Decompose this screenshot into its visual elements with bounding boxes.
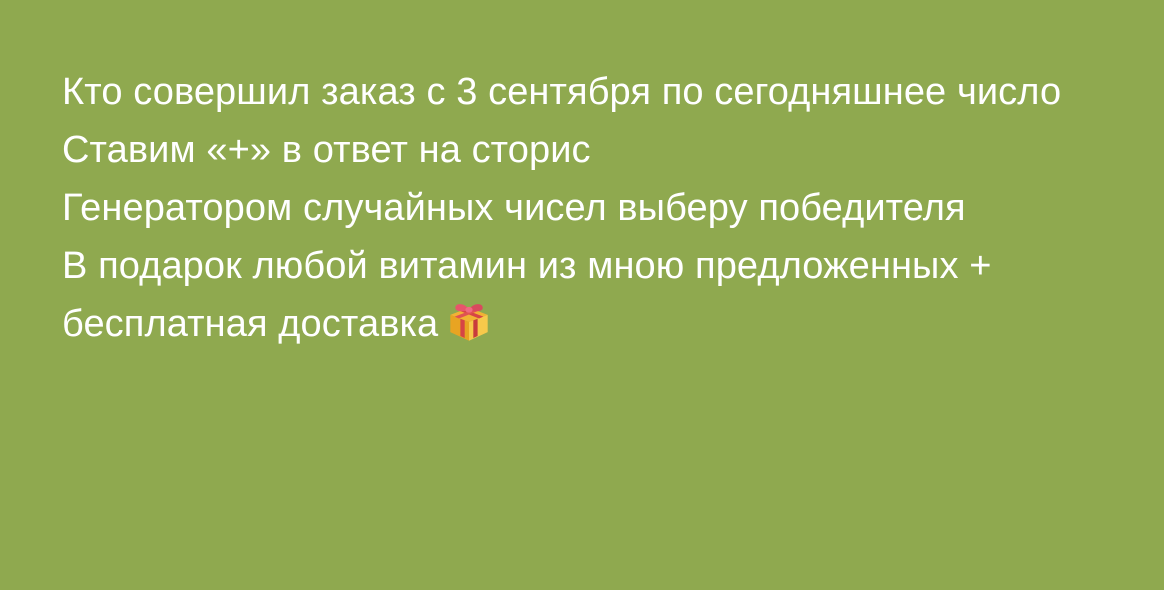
caption-line-3: Генератором случайных чисел выберу побед… [62, 179, 1076, 237]
caption-line-1: Кто совершил заказ с 3 сентября по сегод… [62, 63, 1076, 121]
caption-line-4-text: В подарок любой витамин из мною предложе… [62, 245, 992, 345]
caption-text-block: Кто совершил заказ с 3 сентября по сегод… [62, 63, 1076, 353]
caption-line-4: В подарок любой витамин из мною предложе… [62, 237, 1076, 353]
story-canvas: Кто совершил заказ с 3 сентября по сегод… [0, 0, 1164, 590]
wrapped-gift-emoji [446, 299, 492, 345]
caption-line-2: Ставим «+» в ответ на сторис [62, 121, 1076, 179]
